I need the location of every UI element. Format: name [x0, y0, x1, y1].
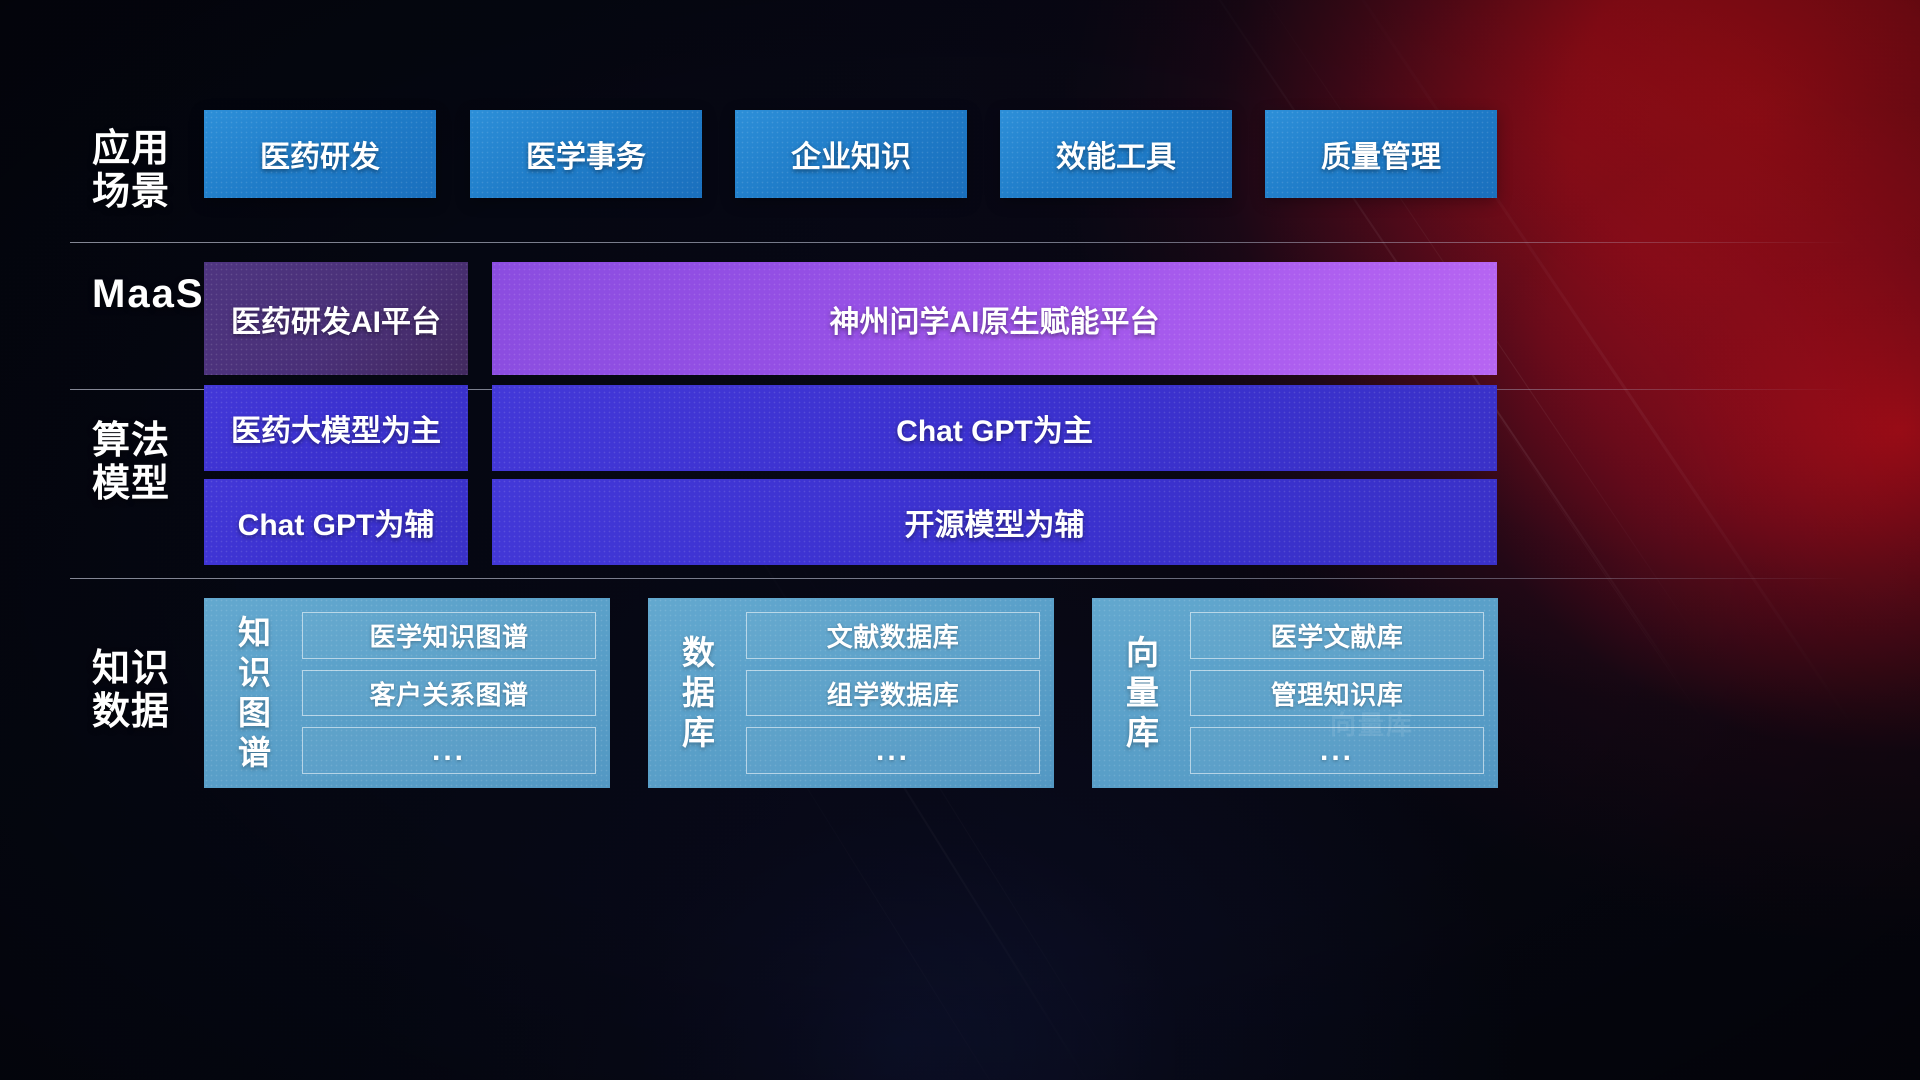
watermark-text: 向量库: [1330, 705, 1414, 742]
algorithm-box-label: 医药大模型为主: [231, 406, 441, 450]
knowledge-card-item[interactable]: 文献数据库: [746, 612, 1040, 659]
scenario-box-label: 医学事务: [526, 132, 646, 176]
scenario-box-quality-management[interactable]: 质量管理: [1265, 110, 1497, 198]
knowledge-card-database[interactable]: 数 据 库 文献数据库 组学数据库 ...: [648, 598, 1054, 788]
knowledge-card-item-list: 医学文献库 管理知识库 ...: [1190, 612, 1484, 774]
knowledge-card-item[interactable]: 医学文献库: [1190, 612, 1484, 659]
slide-canvas: 应用 场景 医药研发 医学事务 企业知识 效能工具 质量管理 MaaS 医药研发…: [0, 0, 1920, 1080]
scenario-box-medical-affairs[interactable]: 医学事务: [470, 110, 702, 198]
maas-box-shenzhou-wenxue-platform[interactable]: 神州问学AI原生赋能平台: [492, 262, 1497, 375]
divider-scenario-maas: [70, 242, 1850, 243]
knowledge-card-title: 数 据 库: [666, 612, 732, 774]
knowledge-card-item[interactable]: 客户关系图谱: [302, 670, 596, 717]
row-label-knowledge: 知识 数据: [92, 648, 212, 735]
row-label-algorithm: 算法 模型: [92, 420, 212, 507]
knowledge-card-item[interactable]: 组学数据库: [746, 670, 1040, 717]
scenario-box-enterprise-knowledge[interactable]: 企业知识: [735, 110, 967, 198]
row-label-knowledge-line1: 知识: [92, 648, 212, 691]
knowledge-card-title: 向 量 库: [1110, 612, 1176, 774]
scenario-box-label: 医药研发: [260, 132, 380, 176]
knowledge-card-knowledge-graph[interactable]: 知 识 图 谱 医学知识图谱 客户关系图谱 ...: [204, 598, 610, 788]
knowledge-card-title-char: 据: [682, 673, 716, 713]
divider-algorithm-knowledge: [70, 578, 1850, 579]
algorithm-box-label: Chat GPT为主: [896, 406, 1093, 450]
knowledge-card-vector-store[interactable]: 向 量 库 医学文献库 管理知识库 ...: [1092, 598, 1498, 788]
knowledge-card-title-char: 数: [682, 633, 716, 673]
algorithm-box-label: 开源模型为辅: [905, 500, 1085, 544]
row-label-algorithm-line1: 算法: [92, 420, 212, 463]
scenario-box-efficiency-tools[interactable]: 效能工具: [1000, 110, 1232, 198]
algorithm-box-drug-large-model-primary[interactable]: 医药大模型为主: [204, 385, 468, 471]
knowledge-card-item-more[interactable]: ...: [302, 727, 596, 774]
maas-box-label: 医药研发AI平台: [231, 297, 441, 341]
knowledge-card-title-char: 知: [238, 613, 272, 653]
row-label-maas: MaaS: [92, 272, 212, 318]
row-label-scenario-line2: 场景: [92, 171, 212, 214]
row-label-scenario-line1: 应用: [92, 128, 212, 171]
scenario-box-label: 质量管理: [1321, 132, 1441, 176]
row-label-knowledge-line2: 数据: [92, 691, 212, 734]
knowledge-card-item-list: 医学知识图谱 客户关系图谱 ...: [302, 612, 596, 774]
algorithm-box-chatgpt-primary[interactable]: Chat GPT为主: [492, 385, 1497, 471]
knowledge-card-title-char: 库: [1126, 713, 1160, 753]
maas-box-drug-rd-ai-platform[interactable]: 医药研发AI平台: [204, 262, 468, 375]
scenario-box-label: 企业知识: [791, 132, 911, 176]
knowledge-card-item[interactable]: 医学知识图谱: [302, 612, 596, 659]
row-label-scenario: 应用 场景: [92, 128, 212, 215]
scenario-box-label: 效能工具: [1056, 132, 1176, 176]
knowledge-card-title-char: 图: [238, 693, 272, 733]
algorithm-box-label: Chat GPT为辅: [238, 500, 435, 544]
knowledge-card-title-char: 谱: [238, 733, 272, 773]
knowledge-card-title-char: 量: [1126, 673, 1160, 713]
knowledge-card-title-char: 库: [682, 713, 716, 753]
knowledge-card-title: 知 识 图 谱: [222, 612, 288, 774]
knowledge-card-title-char: 向: [1126, 633, 1160, 673]
algorithm-box-chatgpt-secondary[interactable]: Chat GPT为辅: [204, 479, 468, 565]
knowledge-card-title-char: 识: [238, 653, 272, 693]
maas-box-label: 神州问学AI原生赋能平台: [830, 297, 1160, 341]
scenario-box-drug-rd[interactable]: 医药研发: [204, 110, 436, 198]
knowledge-card-item-list: 文献数据库 组学数据库 ...: [746, 612, 1040, 774]
row-label-algorithm-line2: 模型: [92, 463, 212, 506]
knowledge-card-item-more[interactable]: ...: [746, 727, 1040, 774]
algorithm-box-opensource-secondary[interactable]: 开源模型为辅: [492, 479, 1497, 565]
